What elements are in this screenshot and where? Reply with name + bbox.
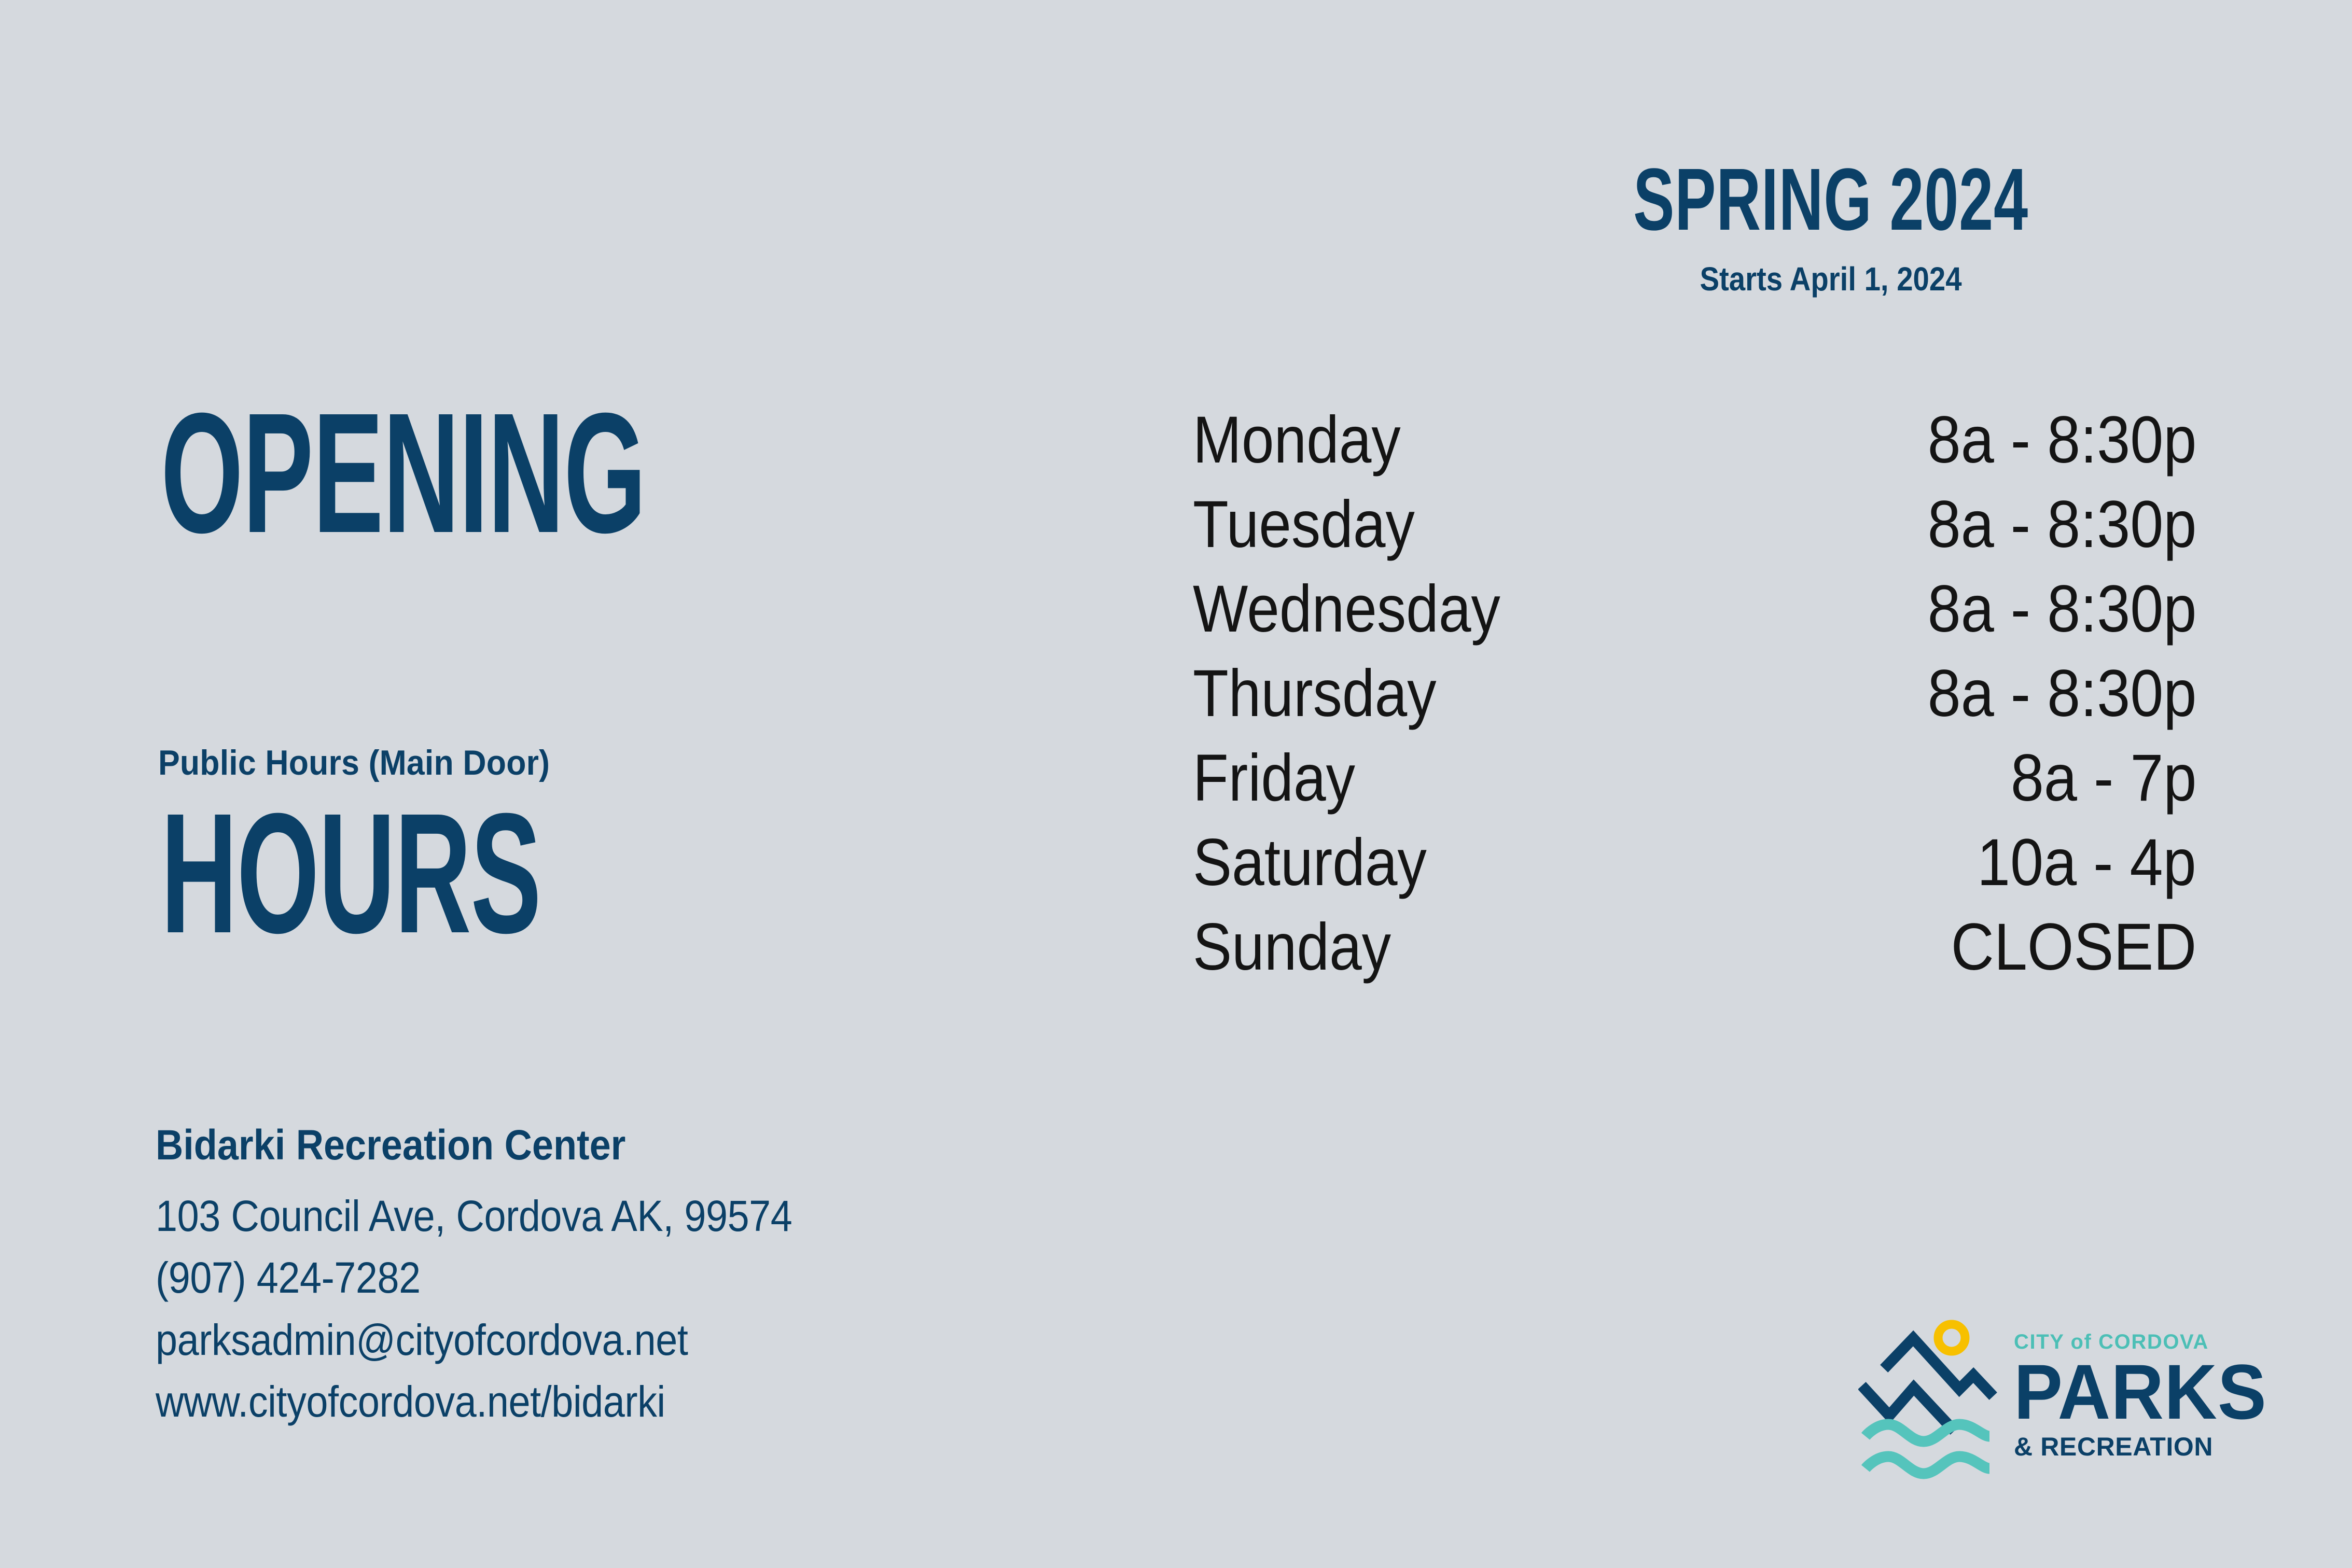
table-row: Monday 8a - 8:30p bbox=[1193, 407, 2196, 492]
table-row: Tuesday 8a - 8:30p bbox=[1193, 492, 2196, 576]
schedule-day: Friday bbox=[1193, 745, 1355, 811]
table-row: Wednesday 8a - 8:30p bbox=[1193, 576, 2196, 661]
schedule-day: Tuesday bbox=[1193, 492, 1415, 558]
schedule-hours: 8a - 8:30p bbox=[1927, 492, 2196, 558]
hours-schedule: Monday 8a - 8:30p Tuesday 8a - 8:30p Wed… bbox=[1193, 407, 2196, 999]
logo-main-line: PARKS bbox=[2014, 1355, 2206, 1429]
wave-lower-icon bbox=[1866, 1457, 1989, 1474]
season-title: SPRING 2024 bbox=[1577, 156, 2085, 244]
wave-upper-icon bbox=[1866, 1424, 1989, 1441]
sun-icon bbox=[1938, 1324, 1965, 1351]
season-header: SPRING 2024 Starts April 1, 2024 bbox=[1468, 156, 2194, 296]
table-row: Saturday 10a - 4p bbox=[1193, 830, 2196, 914]
season-start-date: Starts April 1, 2024 bbox=[1511, 262, 2150, 296]
schedule-hours: 8a - 8:30p bbox=[1927, 407, 2196, 473]
table-row: Friday 8a - 7p bbox=[1193, 745, 2196, 830]
mountains-sun-waves-icon bbox=[1858, 1317, 2014, 1488]
schedule-hours: 8a - 7p bbox=[2010, 745, 2196, 811]
page-subtitle: Public Hours (Main Door) bbox=[158, 743, 550, 783]
facility-email[interactable]: parksadmin@cityofcordova.net bbox=[156, 1309, 792, 1371]
parks-recreation-logo: CITY of CORDOVA PARKS & RECREATION bbox=[1858, 1312, 2216, 1499]
schedule-hours: CLOSED bbox=[1951, 914, 2196, 981]
page-title-line-1: OPENING bbox=[161, 406, 646, 539]
logo-sub-line: & RECREATION bbox=[2014, 1434, 2219, 1460]
schedule-day: Wednesday bbox=[1193, 576, 1500, 642]
facility-phone[interactable]: (907) 424-7282 bbox=[156, 1247, 792, 1309]
facility-website[interactable]: www.cityofcordova.net/bidarki bbox=[156, 1371, 792, 1433]
schedule-day: Monday bbox=[1193, 407, 1401, 473]
contact-block: Bidarki Recreation Center 103 Council Av… bbox=[156, 1124, 792, 1433]
schedule-hours: 8a - 8:30p bbox=[1927, 576, 2196, 642]
table-row: Thursday 8a - 8:30p bbox=[1193, 661, 2196, 745]
page-title-line-2: HOURS bbox=[161, 806, 646, 940]
schedule-day: Sunday bbox=[1193, 914, 1391, 981]
facility-name: Bidarki Recreation Center bbox=[156, 1124, 792, 1167]
schedule-hours: 10a - 4p bbox=[1977, 830, 2196, 896]
schedule-day: Thursday bbox=[1193, 661, 1437, 727]
page-title: OPENING HOURS bbox=[161, 139, 646, 1207]
schedule-day: Saturday bbox=[1193, 830, 1427, 896]
poster-canvas: OPENING HOURS Public Hours (Main Door) S… bbox=[0, 0, 2352, 1568]
facility-address: 103 Council Ave, Cordova AK, 99574 bbox=[156, 1185, 792, 1247]
schedule-hours: 8a - 8:30p bbox=[1927, 661, 2196, 727]
table-row: Sunday CLOSED bbox=[1193, 914, 2196, 999]
logo-wordmark: CITY of CORDOVA PARKS & RECREATION bbox=[2014, 1332, 2219, 1460]
